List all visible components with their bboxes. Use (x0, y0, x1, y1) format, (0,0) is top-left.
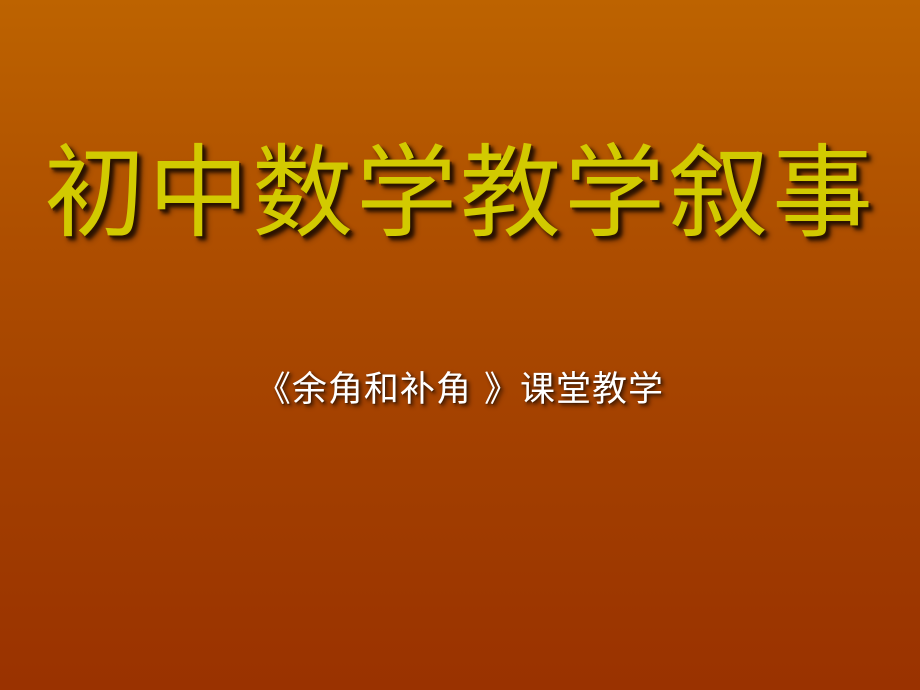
empty-content-area (0, 440, 920, 690)
title-slide: 初中数学教学叙事 《余角和补角 》课堂教学 (0, 0, 920, 690)
subtitle-placeholder: 《余角和补角 》课堂教学 (0, 370, 920, 411)
title-placeholder: 初中数学教学叙事 (0, 140, 920, 247)
page-subtitle: 《余角和补角 》课堂教学 (256, 370, 664, 411)
page-title: 初中数学教学叙事 (44, 140, 876, 247)
